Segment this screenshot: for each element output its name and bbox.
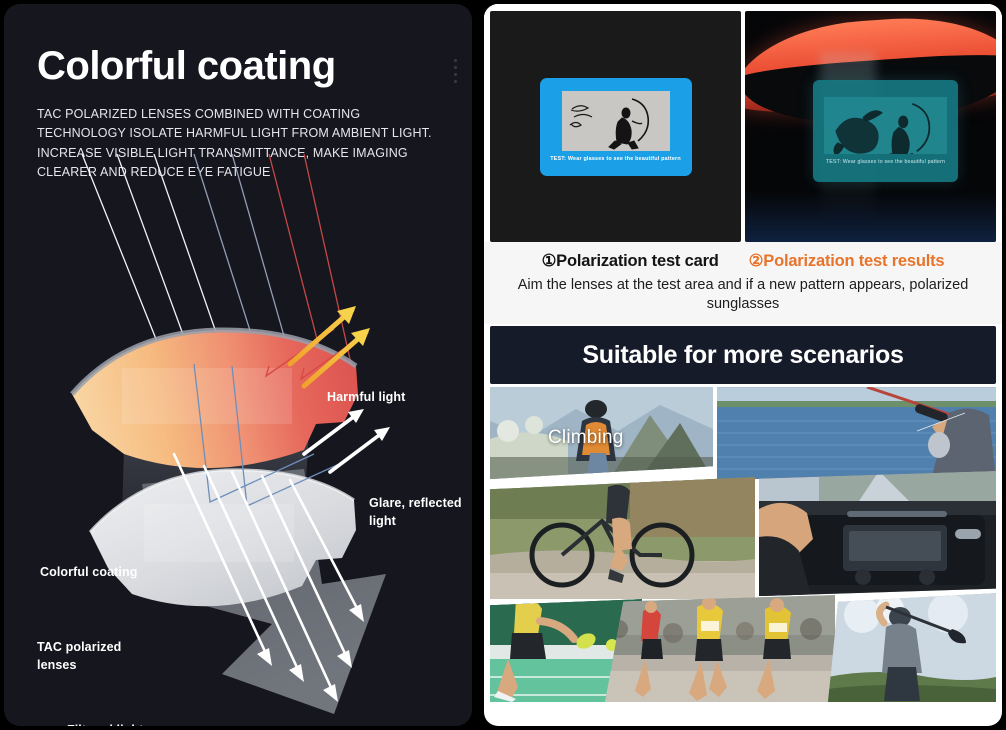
label-colorful-coating: Colorful coating <box>40 564 137 582</box>
test-photo-pair: TEST: Wear glasses to see the beautiful … <box>484 4 1002 242</box>
revealed-pattern-art <box>824 97 946 154</box>
scenario-collage: Climbing <box>490 387 996 720</box>
scenario-tile-golf[interactable]: Golf <box>828 593 996 702</box>
scenario-tile-driving[interactable]: Driving <box>759 471 996 596</box>
label-glare-reflected-light: Glare, reflected light <box>369 495 469 530</box>
polarization-test-result-photo: TEST: Wear glasses to see the beautiful … <box>745 11 996 242</box>
polarization-test-card: TEST: Wear glasses to see the beautiful … <box>540 78 692 176</box>
scenario-tile-jogging[interactable]: Jogging <box>605 595 835 702</box>
photo-vignette <box>745 191 996 242</box>
test-card-pattern-art <box>562 91 670 151</box>
lens-light-diagram: Harmful light Glare, reflected light Col… <box>4 154 472 726</box>
test-instruction-text: Aim the lenses at the test area and if a… <box>494 276 992 313</box>
scenarios-banner-text: Suitable for more scenarios <box>582 341 903 370</box>
polarization-test-card-photo: TEST: Wear glasses to see the beautiful … <box>490 11 741 242</box>
scenario-tile-climbing[interactable]: Climbing <box>490 387 713 479</box>
step-2-label: ②Polarization test results <box>749 251 945 271</box>
test-steps-caption: ①Polarization test card ②Polarization te… <box>484 242 1002 324</box>
step-1-label: ①Polarization test card <box>542 251 719 271</box>
label-tac-polarized-lenses: TAC polarized lenses <box>37 639 147 674</box>
polarization-test-panel: TEST: Wear glasses to see the beautiful … <box>484 4 1002 726</box>
page-title: Colorful coating <box>37 44 336 88</box>
scenarios-banner: Suitable for more scenarios <box>490 326 996 384</box>
revealed-card-caption: TEST: Wear glasses to see the beautiful … <box>826 159 945 165</box>
test-card-caption: TEST: Wear glasses to see the beautiful … <box>550 156 681 162</box>
colorful-coating-panel: Colorful coating TAC POLARIZED LENSES CO… <box>4 4 472 726</box>
label-harmful-light: Harmful light <box>327 389 405 407</box>
scenario-tile-riding[interactable]: Riding <box>490 477 755 599</box>
revealed-pattern-card: TEST: Wear glasses to see the beautiful … <box>813 80 959 182</box>
product-detail-page: Colorful coating TAC POLARIZED LENSES CO… <box>0 0 1006 730</box>
scenario-label-climbing: Climbing <box>548 427 624 449</box>
scenario-tile-fishing[interactable]: Fishing <box>717 387 996 479</box>
vertical-dots-icon[interactable] <box>450 59 460 83</box>
label-filtered-light: Filtered light <box>67 722 143 726</box>
